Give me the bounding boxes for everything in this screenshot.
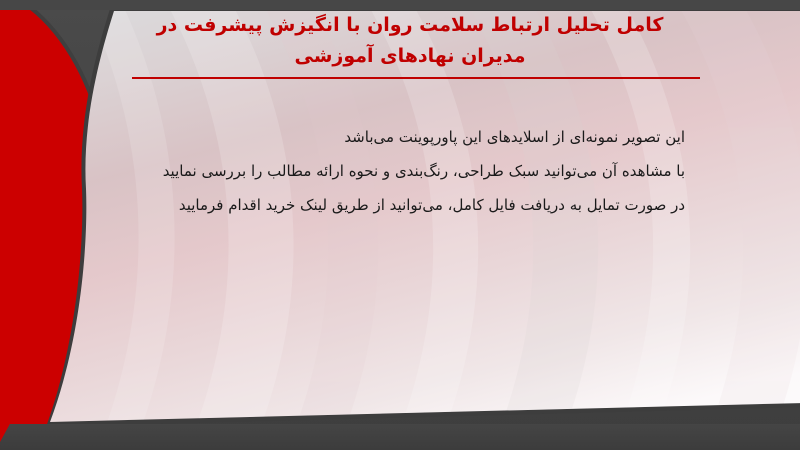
top-frame-band (0, 0, 800, 10)
slide-title: کامل تحلیل ارتباط سلامت روان با انگیزش پ… (110, 10, 710, 72)
slide-body-text: این تصویر نمونه‌ای از اسلایدهای این پاور… (113, 120, 685, 222)
slide-title-line-1: کامل تحلیل ارتباط سلامت روان با انگیزش پ… (110, 10, 710, 41)
bottom-frame-band (0, 424, 800, 450)
title-underline-rule (132, 77, 700, 79)
body-line-3: در صورت تمایل به دریافت فایل کامل، می‌تو… (113, 188, 685, 222)
body-line-2: با مشاهده آن می‌توانید سبک طراحی، رنگ‌بن… (113, 154, 685, 188)
presentation-slide: کامل تحلیل ارتباط سلامت روان با انگیزش پ… (0, 0, 800, 450)
body-line-1: این تصویر نمونه‌ای از اسلایدهای این پاور… (113, 120, 685, 154)
slide-title-line-2: مدیران نهادهای آموزشی (110, 41, 710, 72)
